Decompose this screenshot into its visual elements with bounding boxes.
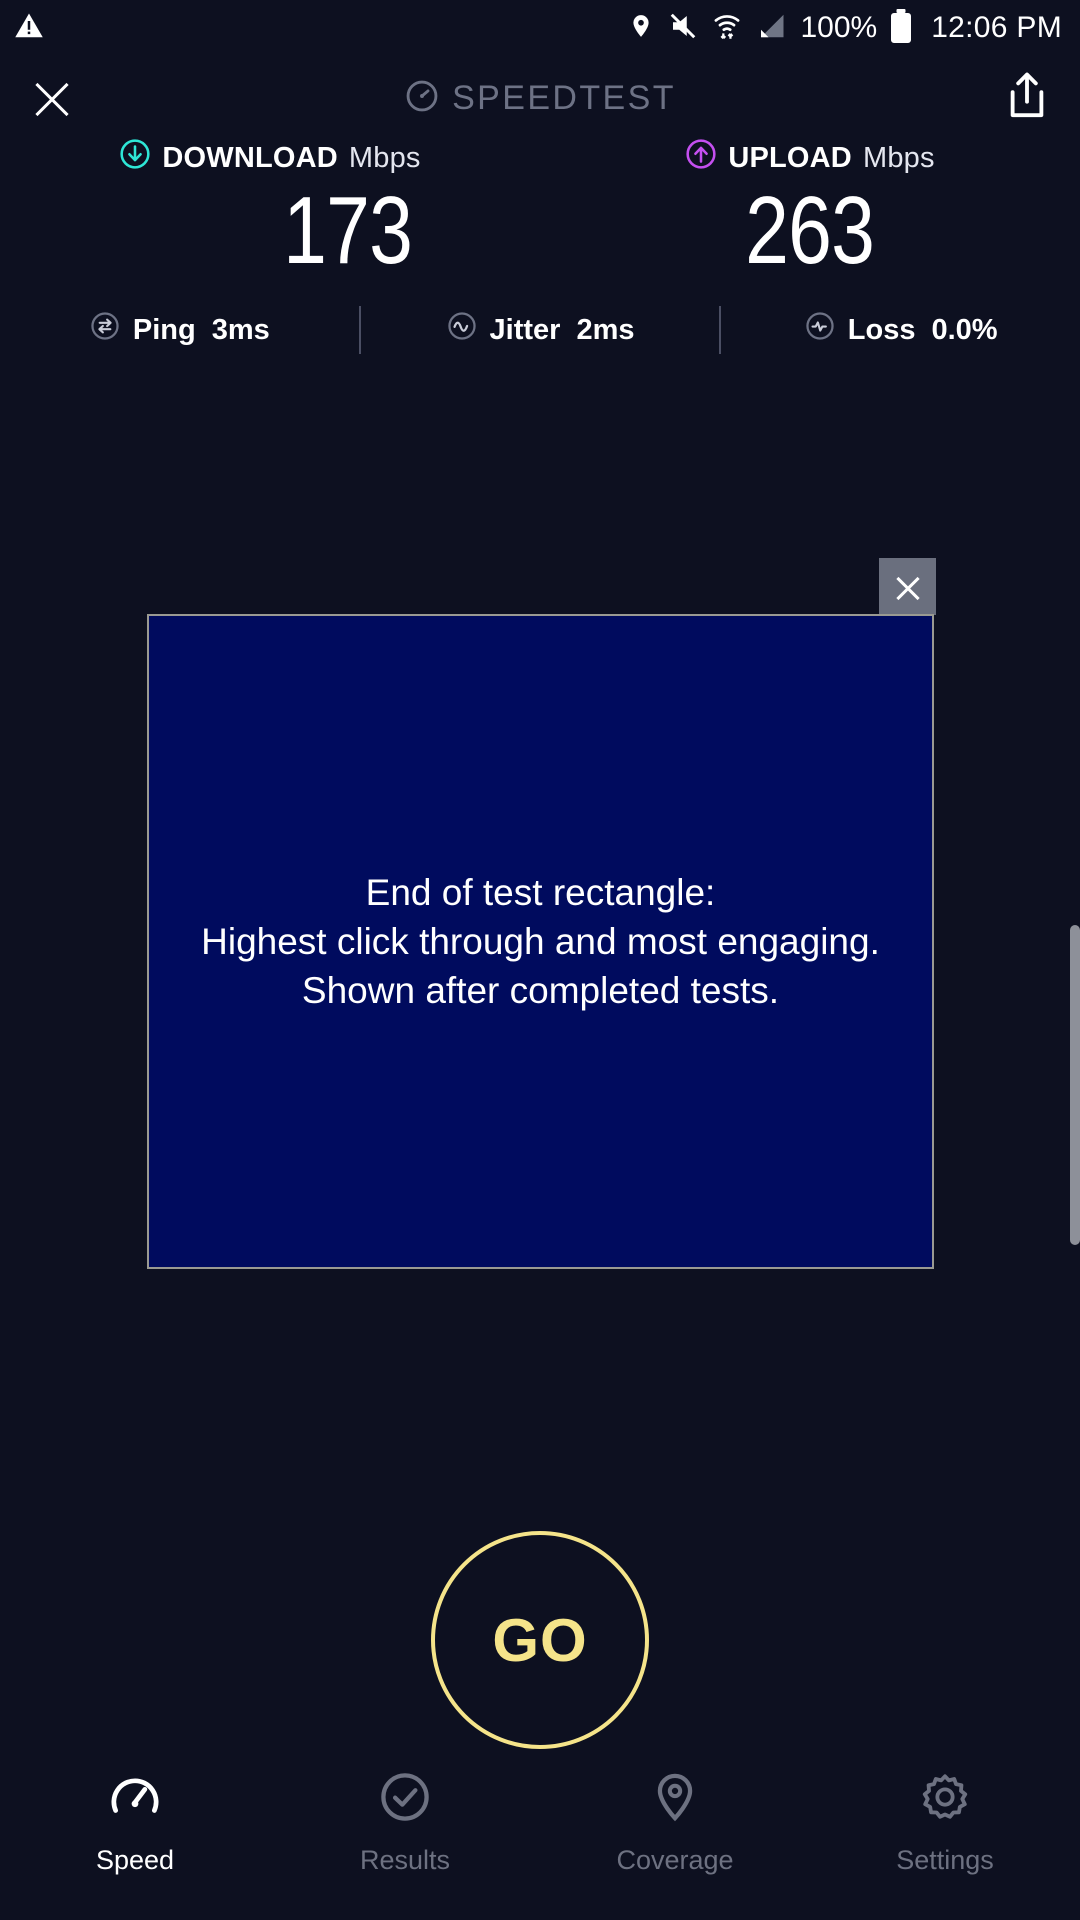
download-label-row: DOWNLOAD Mbps <box>119 138 420 178</box>
warning-triangle-icon <box>14 11 44 46</box>
upload-label: UPLOAD <box>728 142 852 175</box>
metric-loss-label: Loss <box>848 314 916 347</box>
brand: SPEEDTEST <box>0 78 1080 119</box>
jitter-icon <box>446 310 478 350</box>
ad-line-1: End of test rectangle: <box>201 868 880 917</box>
metric-jitter-label: Jitter <box>490 314 561 347</box>
metric-loss: Loss 0.0% <box>721 310 1080 350</box>
metric-ping-value: 3ms <box>212 314 270 347</box>
download-arrow-icon <box>119 138 151 178</box>
battery-full-icon <box>891 13 911 43</box>
nav-label-settings: Settings <box>896 1845 994 1876</box>
status-bar-right: 100% 12:06 PM <box>628 10 1062 47</box>
status-bar-left <box>14 11 44 46</box>
metric-jitter-value: 2ms <box>576 314 634 347</box>
share-icon[interactable] <box>1004 70 1054 126</box>
nav-label-coverage: Coverage <box>616 1845 733 1876</box>
upload-label-row: UPLOAD Mbps <box>685 138 934 178</box>
ad-text: End of test rectangle: Highest click thr… <box>201 868 880 1016</box>
check-circle-icon <box>378 1770 432 1829</box>
speed-results: DOWNLOAD Mbps 173 UPLOAD Mbps 263 <box>0 138 1080 280</box>
status-bar-clock: 12:06 PM <box>931 11 1062 45</box>
cellular-signal-icon <box>756 11 786 46</box>
upload-arrow-icon <box>685 138 717 178</box>
nav-item-speed[interactable]: Speed <box>0 1770 270 1876</box>
upload-result: UPLOAD Mbps 263 <box>540 138 1080 280</box>
ad-close-icon[interactable] <box>879 558 936 615</box>
ad-line-2: Highest click through and most engaging. <box>201 917 880 966</box>
bell-muted-icon <box>668 11 698 46</box>
speed-row: DOWNLOAD Mbps 173 UPLOAD Mbps 263 <box>0 138 1080 280</box>
map-pin-icon <box>648 1770 702 1829</box>
upload-unit: Mbps <box>863 142 935 175</box>
metric-jitter: Jitter 2ms <box>361 310 720 350</box>
metric-ping-label: Ping <box>133 314 196 347</box>
connection-metrics: Ping 3ms Jitter 2ms Loss 0.0% <box>0 300 1080 360</box>
upload-value: 263 <box>746 182 875 280</box>
speedometer-icon <box>108 1770 162 1829</box>
download-label: DOWNLOAD <box>162 142 338 175</box>
metric-loss-value: 0.0% <box>931 314 997 347</box>
scrollbar-thumb[interactable] <box>1070 925 1080 1245</box>
gear-icon <box>918 1770 972 1829</box>
page-title: SPEEDTEST <box>452 79 676 118</box>
go-button[interactable]: GO <box>431 1531 649 1749</box>
nav-item-results[interactable]: Results <box>270 1770 540 1876</box>
nav-item-settings[interactable]: Settings <box>810 1770 1080 1876</box>
download-unit: Mbps <box>349 142 421 175</box>
nav-label-results: Results <box>360 1845 450 1876</box>
ping-icon <box>89 310 121 350</box>
loss-icon <box>804 310 836 350</box>
ad-close-glyph <box>893 572 923 602</box>
metric-ping: Ping 3ms <box>0 310 359 350</box>
status-bar: 100% 12:06 PM <box>0 0 1080 56</box>
ad-line-3: Shown after completed tests. <box>201 966 880 1015</box>
ad-banner[interactable]: End of test rectangle: Highest click thr… <box>147 614 934 1269</box>
download-value: 173 <box>283 182 412 280</box>
bottom-navigation: Speed Results Coverage Settings <box>0 1760 1080 1920</box>
nav-item-coverage[interactable]: Coverage <box>540 1770 810 1876</box>
download-result: DOWNLOAD Mbps 173 <box>0 138 540 280</box>
close-icon[interactable] <box>26 72 78 124</box>
wifi-icon <box>712 10 742 47</box>
go-button-label: GO <box>492 1606 587 1675</box>
nav-label-speed: Speed <box>96 1845 174 1876</box>
app-header: SPEEDTEST <box>0 56 1080 140</box>
speedometer-icon <box>404 78 440 119</box>
location-pin-icon <box>628 11 654 46</box>
battery-percent-label: 100% <box>800 11 877 45</box>
